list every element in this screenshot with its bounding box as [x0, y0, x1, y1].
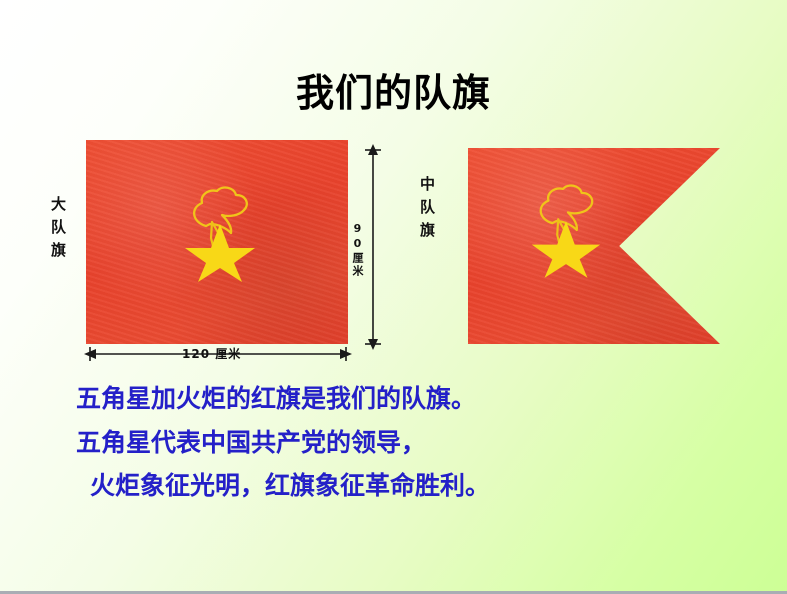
- body-text-line: 五角星加火炬的红旗是我们的队旗。: [76, 381, 756, 417]
- big-flag-label: 大队旗: [50, 196, 65, 265]
- body-text-line: 火炬象征光明，红旗象征革命胜利。: [76, 468, 756, 504]
- small-flag-label: 中队旗: [419, 176, 434, 245]
- torch-and-star-emblem: [176, 182, 264, 282]
- width-dimension-label: 120 厘米: [182, 348, 241, 360]
- torch-and-star-emblem: [523, 180, 609, 278]
- body-text-block: 五角星加火炬的红旗是我们的队旗。 五角星代表中国共产党的领导， 火炬象征光明，红…: [76, 381, 756, 512]
- height-dimension-label: 90厘米: [352, 222, 363, 278]
- slide-canvas: 我们的队旗 大队旗 中队旗: [0, 0, 787, 594]
- body-text-line: 五角星代表中国共产党的领导，: [76, 425, 756, 461]
- flag-figure: 大队旗 中队旗: [0, 0, 787, 375]
